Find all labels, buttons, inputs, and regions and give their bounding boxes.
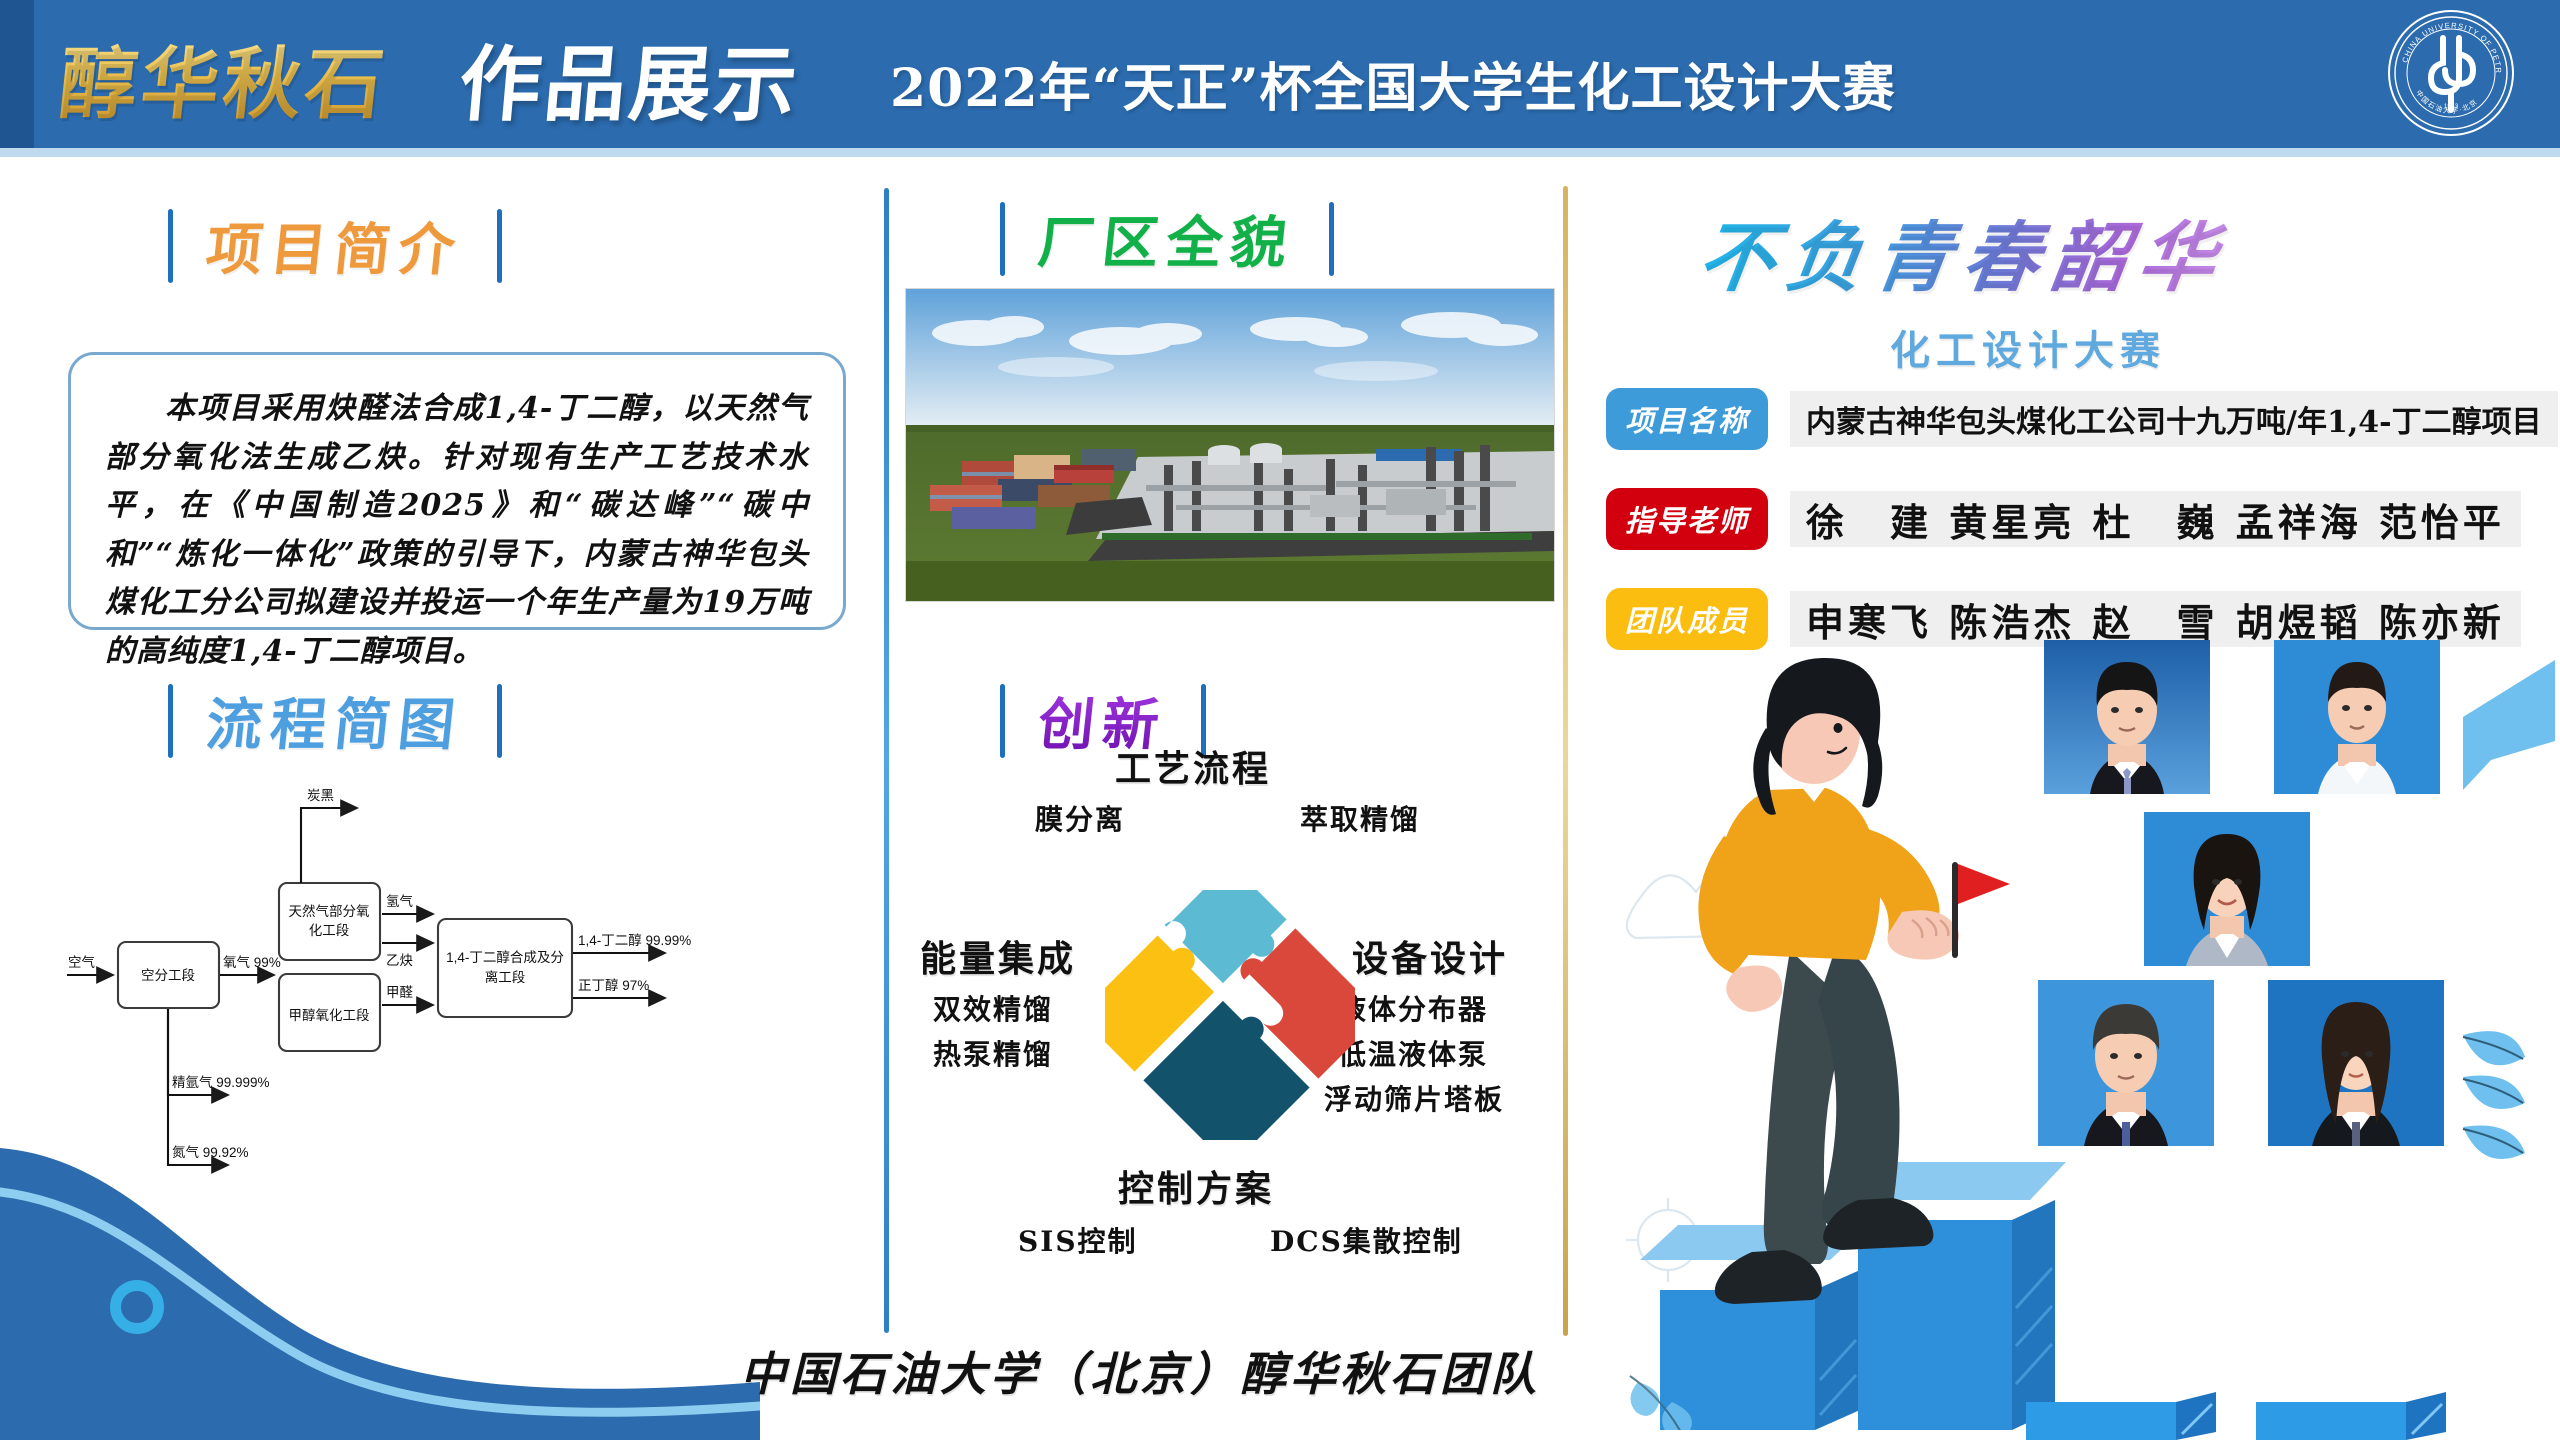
section-heading-intro: 项目简介 bbox=[168, 205, 502, 286]
svg-text:1,4-丁二醇合成及分: 1,4-丁二醇合成及分 bbox=[446, 949, 564, 965]
innovation-diagram: 工艺流程 膜分离 萃取精馏 能量集成 双效精馏 热泵精馏 设备设计 液体分布器 … bbox=[900, 730, 1560, 1300]
intro-paragraph: 本项目采用炔醛法合成1,4-丁二醇，以天然气部分氧化法生成乙炔。针对现有生产工艺… bbox=[105, 385, 809, 677]
heading-bar-left bbox=[168, 684, 173, 758]
innovation-title-equipment: 设备设计 bbox=[1352, 930, 1508, 982]
flow-input-label: 空气 bbox=[68, 955, 95, 970]
column-divider-right bbox=[1563, 186, 1568, 1336]
innovation-title-energy: 能量集成 bbox=[920, 930, 1076, 982]
info-tag-advisors: 指导老师 bbox=[1606, 488, 1768, 550]
footer-team-name: 中国石油大学（北京）醇华秋石团队 bbox=[740, 1338, 1540, 1404]
member-photo-4 bbox=[2038, 980, 2214, 1146]
header-title-white: 作品展示 bbox=[455, 18, 805, 137]
decorative-block-left bbox=[2026, 1392, 2236, 1440]
member-photo-5 bbox=[2268, 980, 2444, 1146]
flow-stream-label: 甲醛 bbox=[386, 985, 413, 1000]
section-title-intro: 项目简介 bbox=[203, 205, 468, 286]
heading-bar-right bbox=[497, 209, 502, 283]
member-photo-3 bbox=[2144, 812, 2310, 966]
puzzle-icon bbox=[1105, 890, 1355, 1140]
flow-stream-label: 氢气 bbox=[386, 894, 413, 909]
innovation-title-control: 控制方案 bbox=[1118, 1160, 1274, 1212]
decorative-block-right bbox=[2256, 1392, 2466, 1440]
logo-year: 1953 bbox=[2444, 103, 2459, 110]
innovation-item-distributor: 液体分布器 bbox=[1338, 988, 1488, 1028]
innovation-item-cryo-pump: 低温液体泵 bbox=[1338, 1033, 1488, 1073]
header-title-gold: 醇华秋石 bbox=[54, 22, 394, 134]
section-title-plant: 厂区全貌 bbox=[1035, 198, 1300, 279]
poster-root: 醇华秋石 作品展示 2022年“天正”杯全国大学生化工设计大赛 CHINA UN… bbox=[0, 0, 2560, 1440]
info-row-advisors: 指导老师 徐 建 黄星亮 杜 巍 孟祥海 范怡平 bbox=[1606, 488, 2521, 550]
right-panel-slogan: 不负青春韶华 bbox=[1692, 196, 2235, 306]
header-underline bbox=[0, 148, 2560, 157]
innovation-title-process: 工艺流程 bbox=[1115, 740, 1271, 792]
decorative-arrow-shape-top bbox=[2455, 655, 2560, 795]
innovation-item-dual-effect: 双效精馏 bbox=[933, 988, 1053, 1028]
svg-text:化工段: 化工段 bbox=[309, 923, 350, 938]
heading-bar-right bbox=[497, 684, 502, 758]
info-row-project: 项目名称 内蒙古神华包头煤化工公司十九万吨/年1,4-丁二醇项目 bbox=[1606, 388, 2558, 450]
intro-card: 本项目采用炔醛法合成1,4-丁二醇，以天然气部分氧化法生成乙炔。针对现有生产工艺… bbox=[68, 352, 846, 630]
bottom-wave-decoration bbox=[0, 1130, 760, 1440]
info-tag-project: 项目名称 bbox=[1606, 388, 1768, 450]
section-heading-flow: 流程简图 bbox=[168, 680, 502, 761]
university-logo: CHINA UNIVERSITY OF PETROLEUM 中国石油大学·北京 … bbox=[2386, 8, 2516, 138]
right-panel-slogan-sub: 化工设计大赛 bbox=[1890, 318, 2166, 376]
section-heading-plant: 厂区全貌 bbox=[1000, 198, 1334, 279]
info-value-advisors: 徐 建 黄星亮 杜 巍 孟祥海 范怡平 bbox=[1790, 491, 2521, 547]
decorative-leaf-shape-bottom bbox=[2455, 1015, 2560, 1185]
innovation-item-extractive: 萃取精馏 bbox=[1300, 798, 1420, 838]
flow-node-label: 空分工段 bbox=[141, 968, 195, 983]
flow-stream-label: 氧气 99% bbox=[223, 955, 281, 970]
svg-text:离工段: 离工段 bbox=[485, 969, 526, 985]
flow-stream-label: 1,4-丁二醇 99.99% bbox=[578, 932, 691, 948]
section-title-flow: 流程简图 bbox=[203, 680, 468, 761]
header-subtitle: 2022年“天正”杯全国大学生化工设计大赛 bbox=[890, 46, 1896, 121]
flow-stream-label: 精氩气 99.999% bbox=[172, 1075, 270, 1090]
member-photo-1 bbox=[2044, 640, 2210, 794]
info-value-members: 申寒飞 陈浩杰 赵 雪 胡煜韬 陈亦新 bbox=[1790, 591, 2521, 647]
heading-bar-left bbox=[1000, 202, 1005, 276]
decorative-ring bbox=[110, 1280, 164, 1334]
plant-overview-image bbox=[905, 288, 1555, 602]
member-photo-2 bbox=[2274, 640, 2440, 794]
innovation-item-membrane: 膜分离 bbox=[1035, 798, 1125, 838]
poster-header: 醇华秋石 作品展示 2022年“天正”杯全国大学生化工设计大赛 CHINA UN… bbox=[0, 0, 2560, 148]
innovation-item-heat-pump: 热泵精馏 bbox=[933, 1033, 1053, 1073]
header-left-accent bbox=[0, 0, 34, 148]
flow-stream-label: 正丁醇 97% bbox=[578, 977, 649, 993]
svg-text:天然气部分氧: 天然气部分氧 bbox=[289, 903, 370, 919]
heading-bar-right bbox=[1329, 202, 1334, 276]
info-value-project: 内蒙古神华包头煤化工公司十九万吨/年1,4-丁二醇项目 bbox=[1790, 391, 2558, 447]
innovation-item-sis: SIS控制 bbox=[1018, 1220, 1138, 1260]
flow-node-label: 甲醇氧化工段 bbox=[289, 1007, 370, 1023]
flow-stream-label: 炭黑 bbox=[307, 788, 334, 803]
heading-bar-left bbox=[168, 209, 173, 283]
innovation-item-dcs: DCS集散控制 bbox=[1270, 1220, 1463, 1260]
person-climbing-steps-with-flag-illustration bbox=[1600, 640, 2070, 1430]
flow-stream-label: 乙炔 bbox=[386, 953, 413, 968]
